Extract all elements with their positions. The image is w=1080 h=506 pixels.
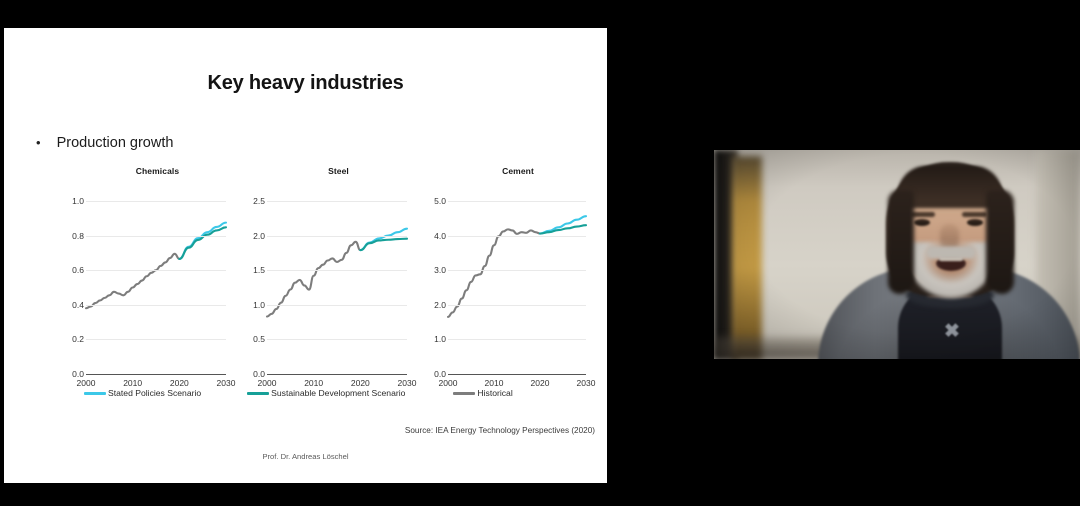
y-tick-label: 1.5 [239, 265, 265, 275]
legend-item-historical: Historical [453, 388, 512, 398]
gridline [267, 236, 407, 237]
x-tick-label: 2030 [217, 378, 236, 388]
presenter-video-feed[interactable]: ✖ [714, 150, 1080, 359]
gridline [267, 339, 407, 340]
x-tick-label: 2030 [398, 378, 417, 388]
x-axis-line [448, 374, 586, 375]
hair-side-left [888, 190, 914, 294]
y-tick-label: 2.0 [420, 300, 446, 310]
x-tick-label: 2030 [577, 378, 596, 388]
series-lines [448, 201, 586, 374]
series-line [540, 216, 586, 233]
y-tick-label: 2.5 [239, 196, 265, 206]
series-line [86, 254, 179, 308]
x-tick-label: 2020 [531, 378, 550, 388]
series-lines [86, 201, 226, 374]
background-door-frame [732, 156, 762, 359]
y-tick-label: 5.0 [420, 196, 446, 206]
gridline [448, 305, 586, 306]
x-tick-label: 2000 [258, 378, 277, 388]
legend-swatch [247, 392, 269, 395]
series-line [179, 227, 226, 259]
series-lines [267, 201, 407, 374]
series-line [179, 223, 226, 259]
x-tick-label: 2000 [439, 378, 458, 388]
x-axis-line [267, 374, 407, 375]
source-citation: Source: IEA Energy Technology Perspectiv… [4, 426, 607, 435]
chart-steel: Steel 0.00.51.01.52.02.5 200020102020203… [237, 166, 418, 271]
chart-title: Steel [259, 166, 418, 176]
legend-label: Historical [477, 388, 512, 398]
bullet-item: • Production growth [36, 135, 173, 151]
gridline [448, 270, 586, 271]
chart-group: Chemicals 0.00.20.40.60.81.0 20002010202… [56, 166, 596, 271]
x-tick-label: 2000 [77, 378, 96, 388]
gridline [86, 201, 226, 202]
gridline [267, 270, 407, 271]
chart-legend: Stated Policies Scenario Sustainable Dev… [56, 388, 596, 398]
series-line [360, 239, 407, 250]
plot-area [448, 201, 586, 374]
chart-title: Cement [440, 166, 596, 176]
y-tick-label: 1.0 [420, 334, 446, 344]
x-tick-label: 2020 [170, 378, 189, 388]
presenter-person: ✖ [810, 156, 1080, 359]
y-axis-labels: 0.00.20.40.60.81.0 [56, 201, 84, 374]
gridline [86, 339, 226, 340]
x-tick-label: 2010 [485, 378, 504, 388]
screen: Key heavy industries • Production growth… [0, 0, 1080, 506]
eyebrow-right [962, 212, 987, 217]
y-axis-labels: 0.00.51.01.52.02.5 [237, 201, 265, 374]
mustache [926, 246, 976, 259]
gridline [267, 201, 407, 202]
x-tick-label: 2010 [123, 378, 142, 388]
y-tick-label: 0.5 [239, 334, 265, 344]
page-title: Key heavy industries [4, 72, 607, 95]
y-tick-label: 0.4 [58, 300, 84, 310]
bullet-marker-icon: • [36, 136, 41, 149]
gridline [86, 305, 226, 306]
y-tick-label: 2.0 [239, 231, 265, 241]
chart-chemicals: Chemicals 0.00.20.40.60.81.0 20002010202… [56, 166, 237, 271]
eye-left [914, 219, 930, 226]
legend-label: Sustainable Development Scenario [271, 388, 405, 398]
y-tick-label: 1.0 [239, 300, 265, 310]
gridline [448, 236, 586, 237]
shirt-x-logo-icon: ✖ [928, 321, 974, 343]
legend-swatch [453, 392, 475, 395]
x-tick-label: 2010 [304, 378, 323, 388]
presenter-name: Prof. Dr. Andreas Löschel [4, 452, 607, 461]
y-tick-label: 3.0 [420, 265, 446, 275]
y-tick-label: 0.8 [58, 231, 84, 241]
bullet-label: Production growth [57, 135, 174, 151]
presentation-slide: Key heavy industries • Production growth… [4, 28, 607, 483]
y-tick-label: 0.6 [58, 265, 84, 275]
plot-area [267, 201, 407, 374]
gridline [448, 201, 586, 202]
chart-title: Chemicals [78, 166, 237, 176]
y-tick-label: 0.2 [58, 334, 84, 344]
gridline [86, 236, 226, 237]
y-tick-label: 4.0 [420, 231, 446, 241]
y-axis-labels: 0.01.02.03.04.05.0 [418, 201, 446, 374]
gridline [448, 339, 586, 340]
series-line [448, 229, 540, 317]
gridline [86, 270, 226, 271]
hair-side-right [986, 190, 1014, 294]
x-axis-line [86, 374, 226, 375]
x-tick-label: 2020 [351, 378, 370, 388]
plot-area [86, 201, 226, 374]
legend-label: Stated Policies Scenario [108, 388, 201, 398]
legend-item-sustainable-development: Sustainable Development Scenario [247, 388, 405, 398]
legend-swatch [84, 392, 106, 395]
chart-cement: Cement 0.01.02.03.04.05.0 20002010202020… [418, 166, 596, 271]
eye-right [967, 219, 983, 226]
gridline [267, 305, 407, 306]
legend-item-stated-policies: Stated Policies Scenario [84, 388, 201, 398]
y-tick-label: 1.0 [58, 196, 84, 206]
